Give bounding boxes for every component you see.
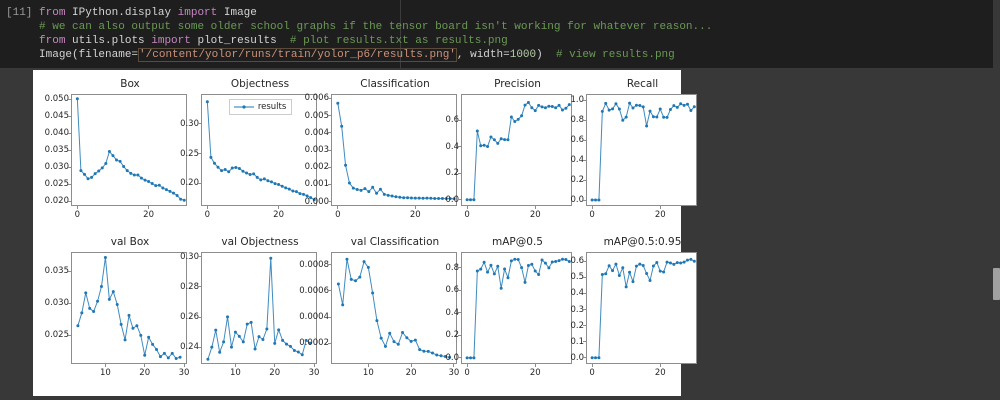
data-point <box>76 324 79 327</box>
data-point <box>524 281 527 284</box>
data-point <box>469 356 472 359</box>
y-axis-tick-label: 0.0004 <box>283 312 329 322</box>
data-point <box>406 196 409 199</box>
x-axis-tick-label: 0 <box>464 210 469 220</box>
data-point <box>101 166 104 169</box>
cell-prompt: [11] <box>6 7 39 19</box>
x-axis-tick-mark <box>235 364 236 367</box>
y-axis-tick-mark <box>328 184 331 185</box>
y-axis-tick-label: 0.24 <box>153 342 199 352</box>
y-axis-tick-label: 0.030 <box>23 162 69 172</box>
x-axis-tick-label: 20 <box>406 368 417 378</box>
data-point <box>352 187 355 190</box>
series-line <box>592 259 694 357</box>
data-point <box>500 287 503 290</box>
data-point <box>483 144 486 147</box>
chart-title: val Classification <box>331 236 459 250</box>
y-axis-tick-mark <box>68 133 71 134</box>
chart-panel: Recall0.00.20.40.60.81.0020 <box>586 78 699 232</box>
data-point <box>159 355 162 358</box>
y-axis-tick-label: 0.6 <box>413 115 459 125</box>
data-point <box>129 172 132 175</box>
data-point <box>298 192 301 195</box>
data-point <box>621 266 624 269</box>
data-point <box>242 340 245 343</box>
data-point <box>363 260 366 263</box>
y-axis-tick-label: 0.045 <box>23 111 69 121</box>
data-point <box>263 177 266 180</box>
data-point <box>79 169 82 172</box>
data-point <box>601 110 604 113</box>
data-point <box>402 196 405 199</box>
data-point <box>348 182 351 185</box>
data-point <box>147 180 150 183</box>
data-point <box>100 285 103 288</box>
y-axis-tick-label: 0.25 <box>153 149 199 159</box>
data-point <box>551 105 554 108</box>
data-point <box>524 104 527 107</box>
x-axis-tick-mark <box>144 364 145 367</box>
data-point <box>510 259 513 262</box>
data-point <box>669 261 672 264</box>
data-point <box>631 107 634 110</box>
data-point <box>183 199 186 202</box>
x-axis-tick-label: 10 <box>363 368 374 378</box>
data-point <box>163 352 166 355</box>
data-point <box>87 177 90 180</box>
data-point <box>534 109 537 112</box>
y-axis-tick-mark <box>328 132 331 133</box>
y-axis-tick-label: 0.0006 <box>283 286 329 296</box>
chart-panel: mAP@0.5:0.950.00.10.20.30.40.50.6020 <box>586 236 699 390</box>
data-point <box>291 190 294 193</box>
data-point <box>277 328 280 331</box>
data-point <box>254 347 257 350</box>
x-axis-tick-label: 0 <box>589 368 594 378</box>
y-axis-tick-mark <box>68 303 71 304</box>
data-point <box>625 285 628 288</box>
data-point <box>676 261 679 264</box>
data-point <box>266 179 269 182</box>
data-point <box>689 258 692 261</box>
x-axis-tick-label: 0 <box>464 368 469 378</box>
y-axis-tick-mark <box>458 267 461 268</box>
data-point <box>261 338 264 341</box>
data-point <box>119 160 122 163</box>
data-point <box>144 179 147 182</box>
data-point <box>356 188 359 191</box>
y-axis-tick-label: 0.6 <box>538 135 584 145</box>
data-point <box>493 138 496 141</box>
y-axis-tick-label: 0.4 <box>413 142 459 152</box>
y-axis-tick-label: 0.040 <box>23 128 69 138</box>
data-point <box>238 335 241 338</box>
y-axis-tick-mark <box>328 150 331 151</box>
results-figure: Box0.0200.0250.0300.0350.0400.0450.05002… <box>33 70 681 396</box>
y-axis-tick-mark <box>583 180 586 181</box>
data-point <box>655 116 658 119</box>
data-point <box>394 195 397 198</box>
chart-svg <box>587 95 696 205</box>
data-point <box>210 346 213 349</box>
x-axis-tick-mark <box>660 206 661 209</box>
data-point <box>245 172 248 175</box>
code-line[interactable]: Image(filename='/content/yolor/runs/trai… <box>0 48 993 62</box>
chart-title: mAP@0.5:0.95 <box>586 236 699 250</box>
data-point <box>662 270 665 273</box>
y-axis-tick-mark <box>198 347 201 348</box>
data-point <box>179 356 182 359</box>
x-axis-tick-mark <box>592 206 593 209</box>
data-point <box>231 166 234 169</box>
data-point <box>220 169 223 172</box>
y-axis-tick-mark <box>583 341 586 342</box>
y-axis-tick-mark <box>328 115 331 116</box>
data-point <box>628 102 631 105</box>
x-axis-tick-mark <box>105 364 106 367</box>
data-point <box>645 272 648 275</box>
x-axis-tick-mark <box>314 364 315 367</box>
data-point <box>649 279 652 282</box>
x-axis-tick-label: 20 <box>530 210 541 220</box>
data-point <box>469 198 472 201</box>
y-axis-tick-label: 0.4 <box>413 308 459 318</box>
data-point <box>649 110 652 113</box>
data-point <box>171 352 174 355</box>
y-axis-tick-mark <box>583 100 586 101</box>
y-axis-tick-mark <box>583 293 586 294</box>
data-point <box>94 172 97 175</box>
y-axis-tick-label: 0.003 <box>283 145 329 155</box>
code-source[interactable]: [11] from IPython.display import Image #… <box>0 6 993 62</box>
y-axis-tick-label: 0.035 <box>23 145 69 155</box>
chart-title: val Objectness <box>201 236 319 250</box>
data-point <box>217 166 220 169</box>
y-axis-tick-label: 0.002 <box>283 162 329 172</box>
y-axis-tick-mark <box>458 173 461 174</box>
data-point <box>387 194 390 197</box>
x-axis-tick-label: 20 <box>655 210 666 220</box>
data-point <box>147 336 150 339</box>
y-axis-tick-label: 0.2 <box>538 175 584 185</box>
data-point <box>344 164 347 167</box>
data-point <box>679 261 682 264</box>
code-token: from <box>39 7 72 19</box>
data-point <box>108 150 111 153</box>
legend-line-swatch <box>234 103 254 111</box>
y-axis-tick-label: 0.2 <box>413 330 459 340</box>
x-axis-tick-mark <box>467 206 468 209</box>
data-point <box>336 102 339 105</box>
y-axis-tick-label: 0.6 <box>538 256 584 266</box>
code-token: IPython.display <box>72 7 178 19</box>
data-point <box>388 332 391 335</box>
data-point <box>611 107 614 110</box>
chart-svg <box>462 95 571 205</box>
data-point <box>398 196 401 199</box>
data-point <box>302 193 305 196</box>
y-axis-tick-label: 0.20 <box>153 178 199 188</box>
data-point <box>489 136 492 139</box>
data-point <box>527 101 530 104</box>
data-point <box>683 104 686 107</box>
data-point <box>693 105 696 108</box>
data-point <box>168 190 171 193</box>
data-point <box>666 261 669 264</box>
y-axis-tick-mark <box>328 264 331 265</box>
data-point <box>139 334 142 337</box>
y-axis-tick-label: 0.26 <box>153 312 199 322</box>
chart-title: mAP@0.5 <box>461 236 574 250</box>
data-point <box>631 280 634 283</box>
cell-prompt <box>6 21 39 33</box>
y-axis-tick-mark <box>328 317 331 318</box>
chart-title: Precision <box>461 78 574 92</box>
data-point <box>249 173 252 176</box>
y-axis-tick-label: 0.0002 <box>283 338 329 348</box>
data-point <box>493 272 496 275</box>
data-point <box>676 106 679 109</box>
y-axis-tick-label: 0.4 <box>538 288 584 298</box>
y-axis-tick-label: 0.8 <box>413 263 459 273</box>
data-point <box>659 270 662 273</box>
code-token: import <box>151 35 197 47</box>
y-axis-tick-label: 0.30 <box>153 252 199 262</box>
code-line[interactable]: # we can also output some older school g… <box>0 20 993 34</box>
data-point <box>252 172 255 175</box>
data-point <box>618 108 621 111</box>
x-axis-tick-label: 10 <box>230 368 241 378</box>
y-axis-tick-mark <box>583 357 586 358</box>
cell-prompt <box>6 49 39 61</box>
x-axis-tick-mark <box>411 364 412 367</box>
data-point <box>270 180 273 183</box>
plot-area <box>586 252 697 364</box>
y-axis-tick-label: 0.006 <box>283 93 329 103</box>
data-point <box>496 142 499 145</box>
data-point <box>405 336 408 339</box>
data-point <box>206 358 209 361</box>
data-point <box>206 100 209 103</box>
y-axis-tick-label: 0.001 <box>283 179 329 189</box>
y-axis-tick-mark <box>458 199 461 200</box>
y-axis-tick-label: 0.025 <box>23 179 69 189</box>
y-axis-tick-mark <box>328 343 331 344</box>
data-point <box>517 118 520 121</box>
y-axis-tick-label: 0.28 <box>153 282 199 292</box>
data-point <box>513 120 516 123</box>
data-point <box>472 198 475 201</box>
notebook-output-screen: [11] from IPython.display import Image #… <box>0 0 1000 400</box>
data-point <box>479 144 482 147</box>
y-axis-tick-mark <box>198 183 201 184</box>
data-point <box>140 177 143 180</box>
data-point <box>227 170 230 173</box>
code-token: import <box>178 7 224 19</box>
data-point <box>662 116 665 119</box>
data-point <box>614 263 617 266</box>
data-point <box>476 270 479 273</box>
data-point <box>256 176 259 179</box>
y-axis-tick-mark <box>458 146 461 147</box>
y-axis-tick-label: 0.000 <box>283 197 329 207</box>
data-point <box>686 103 689 106</box>
data-point <box>679 102 682 105</box>
data-point <box>384 345 387 348</box>
y-axis-tick-label: 0.0 <box>538 353 584 363</box>
x-axis-tick-mark <box>592 364 593 367</box>
x-axis-tick-mark <box>274 364 275 367</box>
data-point <box>120 323 123 326</box>
data-point <box>669 108 672 111</box>
data-point <box>621 119 624 122</box>
y-axis-tick-mark <box>458 120 461 121</box>
data-point <box>496 265 499 268</box>
data-point <box>506 138 509 141</box>
y-axis-tick-label: 0.2 <box>413 168 459 178</box>
data-point <box>594 199 597 202</box>
page-scrollbar-track[interactable] <box>993 0 1000 400</box>
data-point <box>238 167 241 170</box>
data-point <box>136 174 139 177</box>
y-axis-tick-mark <box>583 277 586 278</box>
data-point <box>506 276 509 279</box>
data-point <box>655 261 658 264</box>
data-point <box>517 258 520 261</box>
data-point <box>126 169 129 172</box>
data-point <box>614 102 617 105</box>
data-point <box>608 109 611 112</box>
data-point <box>638 104 641 107</box>
data-point <box>358 276 361 279</box>
data-point <box>604 272 607 275</box>
y-axis-tick-label: 0.030 <box>23 298 69 308</box>
data-point <box>652 115 655 118</box>
data-point <box>176 194 179 197</box>
code-cell[interactable]: [11] from IPython.display import Image #… <box>0 0 993 68</box>
x-axis-tick-label: 20 <box>269 368 280 378</box>
series-line <box>592 103 694 200</box>
data-point <box>234 166 237 169</box>
data-point <box>104 256 107 259</box>
data-point <box>608 264 611 267</box>
data-point <box>135 324 138 327</box>
data-point <box>625 116 628 119</box>
y-axis-tick-label: 0.2 <box>538 321 584 331</box>
data-point <box>672 263 675 266</box>
y-axis-tick-mark <box>583 160 586 161</box>
y-axis-tick-mark <box>583 325 586 326</box>
data-point <box>597 356 600 359</box>
data-point <box>472 356 475 359</box>
data-point <box>297 351 300 354</box>
data-point <box>241 170 244 173</box>
data-point <box>489 264 492 267</box>
data-point <box>230 346 233 349</box>
data-point <box>628 271 631 274</box>
y-axis-tick-mark <box>583 200 586 201</box>
data-point <box>246 323 249 326</box>
x-axis-tick-label: 20 <box>530 368 541 378</box>
data-point <box>274 182 277 185</box>
y-axis-tick-mark <box>198 317 201 318</box>
data-point <box>513 258 516 261</box>
data-point <box>561 108 564 111</box>
code-token: utils.plots <box>72 35 151 47</box>
x-axis-tick-mark <box>535 206 536 209</box>
y-axis-tick-label: 0.30 <box>153 119 199 129</box>
data-point <box>90 176 93 179</box>
y-axis-tick-mark <box>583 120 586 121</box>
data-point <box>594 356 597 359</box>
data-point <box>143 354 146 357</box>
data-point <box>391 195 394 198</box>
code-token: , width= <box>457 49 510 61</box>
data-point <box>393 340 396 343</box>
x-axis-tick-label: 20 <box>139 368 150 378</box>
y-axis-tick-mark <box>68 116 71 117</box>
data-point <box>659 108 662 111</box>
code-token: Image(filename= <box>39 49 138 61</box>
y-axis-tick-mark <box>583 261 586 262</box>
data-point <box>345 258 348 261</box>
data-point <box>520 114 523 117</box>
data-point <box>88 307 91 310</box>
data-point <box>83 173 86 176</box>
y-axis-tick-mark <box>198 153 201 154</box>
data-point <box>224 168 227 171</box>
y-axis-tick-mark <box>68 184 71 185</box>
chart-svg <box>587 253 696 363</box>
data-point <box>520 266 523 269</box>
y-axis-tick-mark <box>68 167 71 168</box>
code-token: from <box>39 35 72 47</box>
data-point <box>383 193 386 196</box>
data-point <box>273 342 276 345</box>
chart-title: Recall <box>586 78 699 92</box>
data-point <box>380 337 383 340</box>
data-point <box>92 310 95 313</box>
data-point <box>367 190 370 193</box>
data-point <box>486 145 489 148</box>
y-axis-tick-label: 0.3 <box>538 305 584 315</box>
data-point <box>128 314 131 317</box>
data-point <box>611 269 614 272</box>
x-axis-tick-label: 30 <box>179 368 190 378</box>
data-point <box>618 274 621 277</box>
x-axis-tick-label: 20 <box>655 368 666 378</box>
code-line[interactable]: [11] from IPython.display import Image <box>0 6 993 20</box>
x-axis-tick-label: 0 <box>75 210 80 220</box>
chart-title: val Box <box>71 236 189 250</box>
data-point <box>108 298 111 301</box>
data-point <box>122 165 125 168</box>
data-point <box>486 271 489 274</box>
data-point <box>541 105 544 108</box>
data-point <box>250 321 253 324</box>
page-scrollbar-thumb[interactable] <box>993 268 1000 300</box>
x-axis-tick-mark <box>368 364 369 367</box>
y-axis-tick-label: 0.6 <box>413 285 459 295</box>
data-point <box>397 343 400 346</box>
data-point <box>375 192 378 195</box>
data-point <box>133 174 136 177</box>
data-point <box>510 116 513 119</box>
data-point <box>337 283 340 286</box>
data-point <box>544 106 547 109</box>
code-line[interactable]: from utils.plots import plot_results # p… <box>0 34 993 48</box>
y-axis-tick-label: 0.005 <box>283 111 329 121</box>
